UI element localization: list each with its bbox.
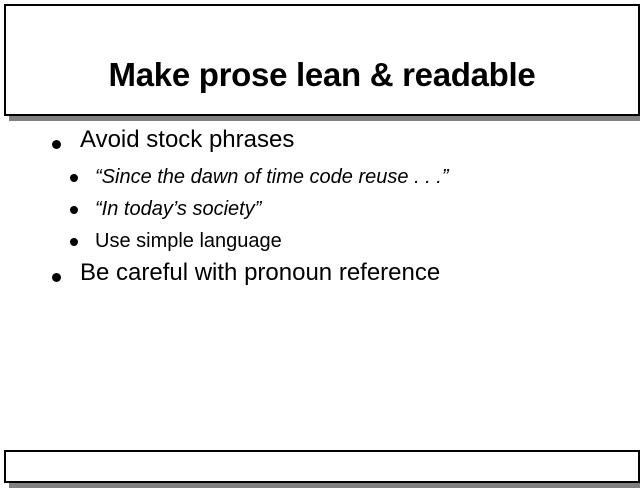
bullet-dot-icon [70, 174, 78, 182]
bullet-dot-icon [52, 273, 61, 282]
list-item[interactable]: Use simple language [66, 229, 640, 261]
list-item[interactable]: “In today’s society” [66, 197, 640, 229]
page-title: Make prose lean & readable [6, 58, 638, 91]
bullet-dot-icon [70, 206, 78, 214]
bullet-dot-icon [52, 140, 61, 149]
bullet-dot-icon [70, 238, 78, 246]
slide: Make prose lean & readable Avoid stock p… [0, 0, 640, 494]
list-item[interactable]: Avoid stock phrases [48, 128, 640, 165]
list-item-label: Avoid stock phrases [80, 128, 294, 152]
list-item[interactable]: Be careful with pronoun reference [48, 261, 640, 298]
body-placeholder[interactable]: Avoid stock phrases “Since the dawn of t… [0, 128, 640, 438]
list-item[interactable]: “Since the dawn of time code reuse . . .… [66, 165, 640, 197]
title-placeholder[interactable]: Make prose lean & readable [4, 4, 640, 116]
list-item-label: “Since the dawn of time code reuse . . .… [95, 167, 449, 187]
list-item-label: Use simple language [95, 231, 282, 251]
list-item-label: Be careful with pronoun reference [80, 261, 440, 285]
footer-placeholder[interactable] [4, 450, 640, 483]
list-item-label: “In today’s society” [95, 199, 261, 219]
